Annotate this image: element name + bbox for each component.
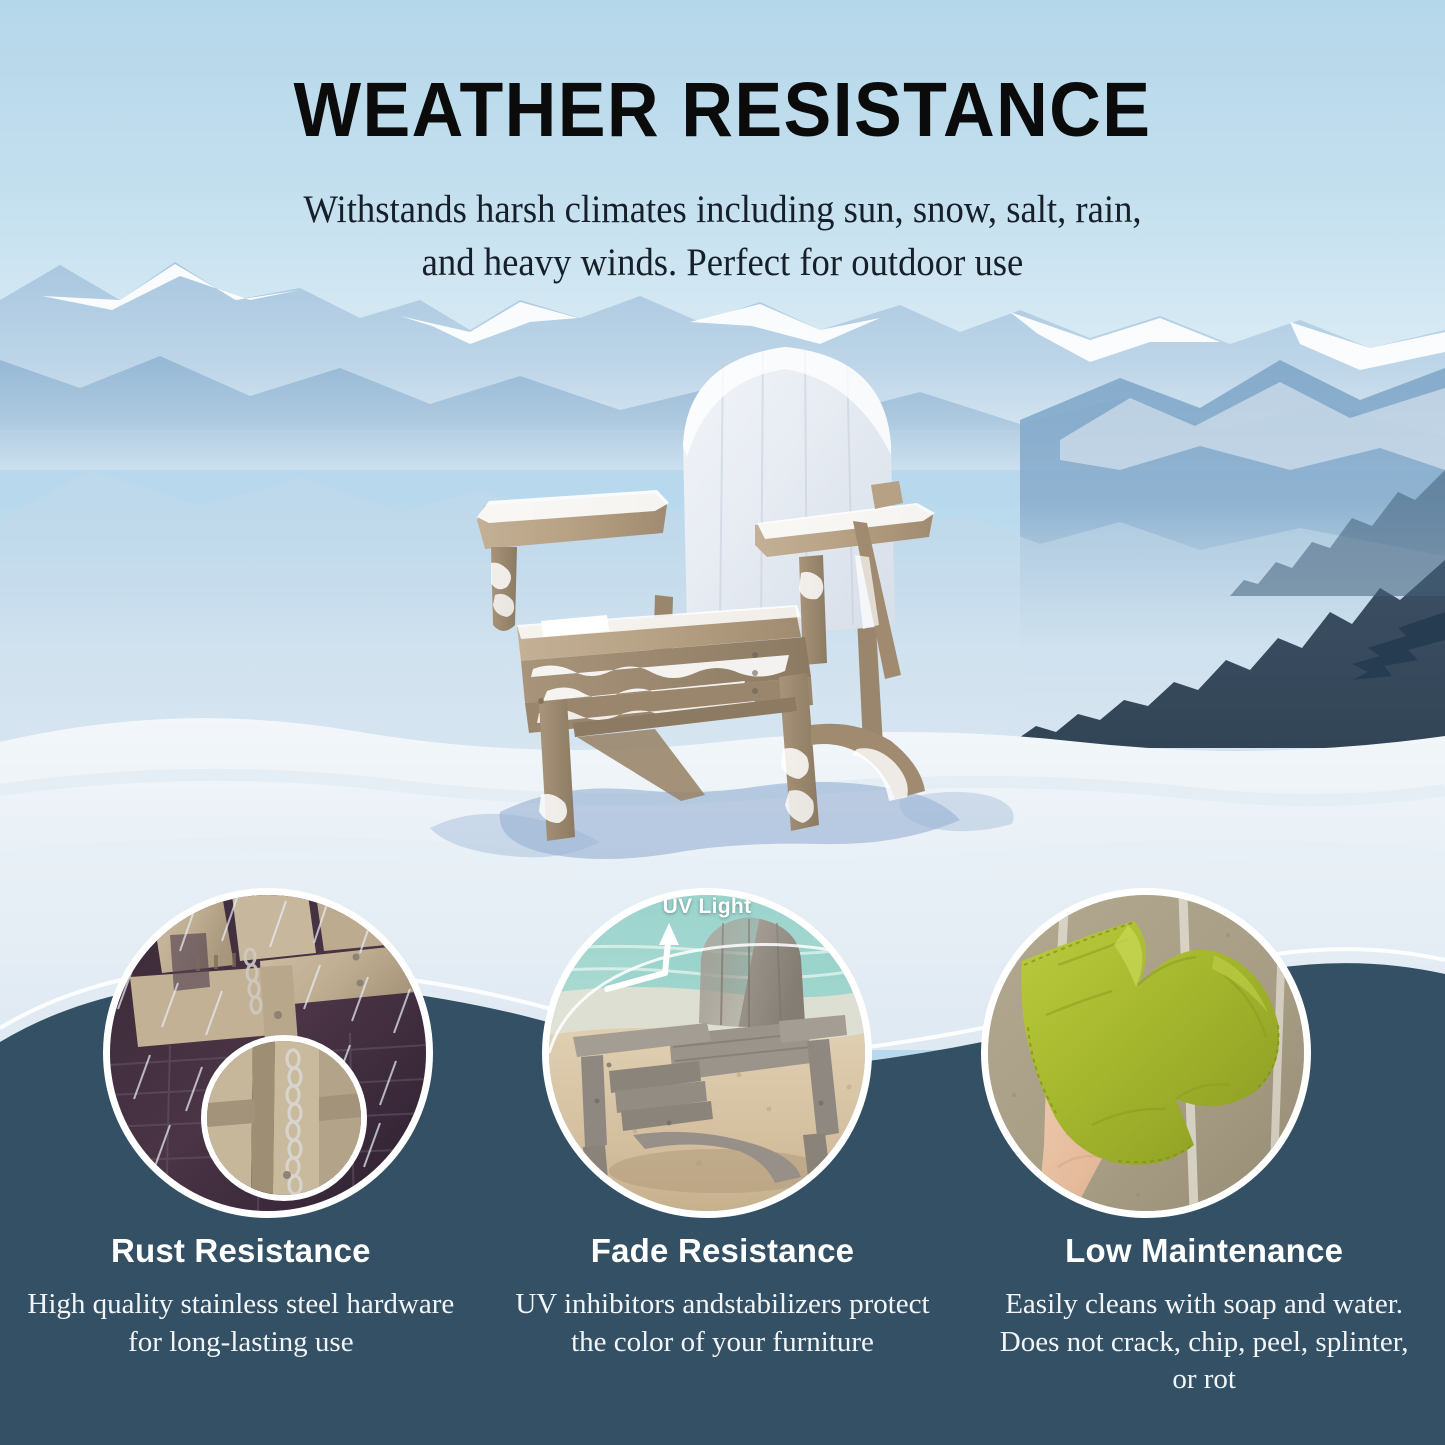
chair-diagonal-brace	[577, 729, 705, 801]
feature-image-low-maintenance	[981, 888, 1311, 1218]
detail-screw	[283, 1171, 291, 1179]
main-product-chair	[455, 325, 955, 845]
feature-heading-fade-resistance: Fade Resistance	[506, 1232, 940, 1270]
feature-heading-rust-resistance: Rust Resistance	[24, 1232, 458, 1270]
feature-image-chain-detail	[201, 1035, 367, 1201]
feature-body-low-maintenance: Easily cleans with soap and water. Does …	[987, 1286, 1421, 1399]
detail-post	[273, 1041, 319, 1195]
feature-column-low-maintenance: Low Maintenance Easily cleans with soap …	[963, 1232, 1445, 1399]
subtitle-line-2: and heavy winds. Perfect for outdoor use	[43, 236, 1401, 289]
feature-column-rust-resistance: Rust Resistance High quality stainless s…	[0, 1232, 482, 1399]
detail-arm-bar-right	[319, 1093, 361, 1121]
subtitle-line-1: Withstands harsh climates including sun,…	[43, 183, 1401, 236]
chair-slat-b	[232, 895, 316, 961]
chair-arm-left-support	[491, 547, 517, 631]
feature-body-fade-resistance: UV inhibitors andstabilizers protect the…	[506, 1286, 940, 1361]
feature-image-fade-resistance	[542, 888, 872, 1218]
detail-arm-bar	[207, 1099, 255, 1127]
feature-body-rust-resistance: High quality stainless steel hardware fo…	[24, 1286, 458, 1361]
gap-shadow	[170, 933, 210, 991]
feature-column-fade-resistance: Fade Resistance UV inhibitors andstabili…	[482, 1232, 964, 1399]
page-title: WEATHER RESISTANCE	[51, 72, 1395, 149]
feature-columns: Rust Resistance High quality stainless s…	[0, 1232, 1445, 1399]
page-subtitle: Withstands harsh climates including sun,…	[43, 183, 1401, 289]
chair-cup-holder	[871, 481, 903, 509]
feature-heading-low-maintenance: Low Maintenance	[987, 1232, 1421, 1270]
infographic-canvas: UV Light	[0, 0, 1445, 1445]
header-block: WEATHER RESISTANCE Withstands harsh clim…	[0, 0, 1445, 289]
